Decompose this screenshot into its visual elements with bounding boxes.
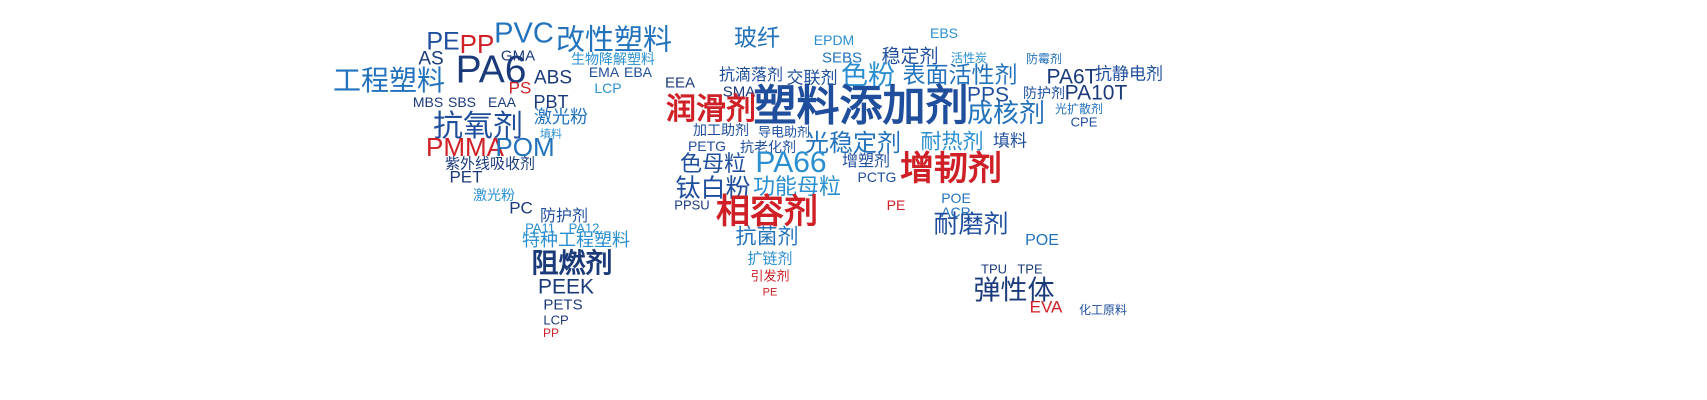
- word-cloud-term[interactable]: PS: [509, 80, 532, 97]
- word-cloud-term[interactable]: PA66: [755, 148, 826, 178]
- word-cloud-term[interactable]: 玻纤: [734, 28, 780, 51]
- word-cloud-term[interactable]: 加工助剂: [693, 124, 749, 138]
- word-cloud-term[interactable]: CPE: [1071, 116, 1098, 129]
- word-cloud-term[interactable]: LCP: [543, 314, 568, 327]
- word-cloud-term[interactable]: POE: [941, 191, 971, 205]
- word-cloud-term[interactable]: 防霉剂: [1026, 53, 1062, 65]
- word-cloud-term[interactable]: 改性塑料: [556, 26, 672, 55]
- word-cloud-term[interactable]: TPE: [1017, 263, 1042, 276]
- word-cloud-term[interactable]: PE: [763, 288, 778, 299]
- word-cloud-term[interactable]: MBS: [413, 95, 443, 109]
- word-cloud-term[interactable]: 防护剂: [1023, 87, 1065, 101]
- word-cloud-term[interactable]: 特种工程塑料: [522, 232, 630, 250]
- word-cloud-term[interactable]: EVA: [1030, 299, 1063, 316]
- word-cloud-term[interactable]: EBS: [930, 26, 958, 40]
- word-cloud-term[interactable]: PVC: [494, 20, 554, 49]
- word-cloud-term[interactable]: 阻燃剂: [532, 251, 613, 278]
- word-cloud-term[interactable]: 激光粉: [534, 109, 588, 127]
- word-cloud-term[interactable]: PET: [449, 169, 482, 186]
- word-cloud-term[interactable]: PPSU: [674, 199, 709, 212]
- word-cloud-term[interactable]: 润滑剂: [666, 95, 756, 125]
- word-cloud-term[interactable]: 抗菌剂: [736, 227, 799, 248]
- word-cloud-term[interactable]: 耐磨剂: [933, 212, 1008, 237]
- word-cloud-term[interactable]: PC: [509, 200, 533, 217]
- word-cloud-term[interactable]: PA10T: [1065, 83, 1128, 104]
- word-cloud-term[interactable]: EMA: [589, 65, 619, 79]
- word-cloud-term[interactable]: EBA: [624, 65, 652, 79]
- word-cloud-term[interactable]: 工程塑料: [333, 67, 445, 95]
- word-cloud-term[interactable]: 扩链剂: [747, 252, 792, 267]
- word-cloud-term[interactable]: PETG: [688, 139, 726, 153]
- word-cloud-term[interactable]: 塑料添加剂: [754, 86, 969, 129]
- word-cloud-term[interactable]: 光扩散剂: [1055, 103, 1103, 115]
- word-cloud-term[interactable]: 化工原料: [1079, 304, 1127, 316]
- word-cloud-term[interactable]: PEEK: [538, 277, 594, 298]
- word-cloud-term[interactable]: PPS: [967, 85, 1009, 106]
- word-cloud-term[interactable]: PETS: [543, 298, 582, 313]
- word-cloud-term[interactable]: 增韧剂: [900, 152, 1002, 186]
- word-cloud-term[interactable]: EEA: [665, 76, 695, 91]
- word-cloud-term[interactable]: PP: [543, 327, 559, 339]
- word-cloud-term[interactable]: PE: [887, 198, 906, 212]
- word-cloud-term[interactable]: 填料: [993, 134, 1027, 151]
- word-cloud-term[interactable]: LCP: [594, 81, 621, 95]
- word-cloud-term[interactable]: POE: [1025, 233, 1059, 249]
- word-cloud-term[interactable]: 导电助剂: [758, 127, 810, 140]
- word-cloud-term[interactable]: TPU: [981, 263, 1007, 276]
- word-cloud-term[interactable]: 引发剂: [750, 271, 789, 284]
- word-cloud-term[interactable]: 增塑剂: [842, 153, 890, 169]
- word-cloud-term[interactable]: EPDM: [814, 33, 854, 47]
- word-cloud-term[interactable]: PCTG: [858, 170, 897, 184]
- word-cloud-term[interactable]: SBS: [448, 95, 476, 109]
- word-cloud-canvas: PEPPPVCGMA改性塑料生物降解塑料玻纤EPDMEBSSEBS稳定剂活性炭防…: [0, 0, 1707, 400]
- word-cloud-term[interactable]: ABS: [534, 69, 572, 88]
